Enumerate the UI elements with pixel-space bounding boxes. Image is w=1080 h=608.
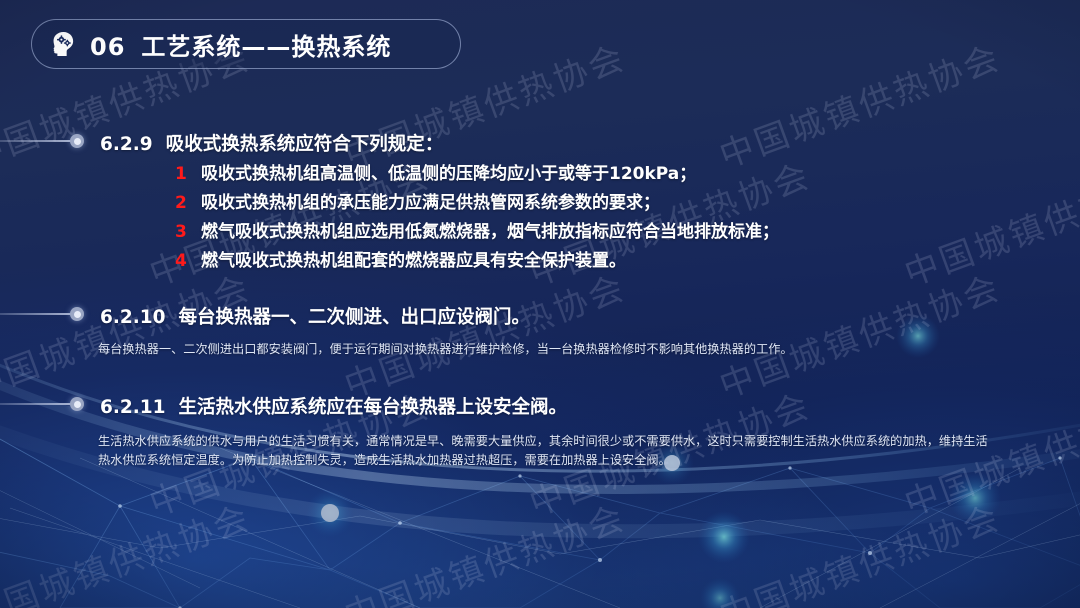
slide-canvas: 中国城镇供热协会 中国城镇供热协会 中国城镇供热协会 中国城镇供热协会 中国城镇…: [0, 0, 1080, 608]
section-number: 6.2.11: [100, 397, 166, 418]
section-connector-line: [0, 403, 74, 405]
section-heading-629: 6.2.9吸收式换热系统应符合下列规定：: [100, 130, 443, 156]
head-gears-icon: [48, 29, 78, 59]
numbered-item-2: 2 吸收式换热机组的承压能力应满足供热管网系统参数的要求；: [175, 188, 660, 213]
watermark-text: 中国城镇供热协会: [0, 490, 257, 608]
item-text: 燃气吸收式换热机组配套的燃烧器应具有安全保护装置。: [201, 246, 626, 271]
item-number: 1: [175, 164, 201, 184]
watermark-text: 中国城镇供热协会: [712, 490, 1007, 608]
section-bullet-dot: [70, 134, 84, 148]
header-title-text: 工艺系统——换热系统: [141, 33, 391, 61]
section-connector-line: [0, 140, 74, 142]
item-number: 4: [175, 251, 201, 271]
watermark-text: 中国城镇供热协会: [712, 30, 1007, 177]
watermark-text: 中国城镇供热协会: [337, 490, 632, 608]
watermark-text: 中国城镇供热协会: [337, 260, 632, 407]
section-title: 生活热水供应系统应在每台换热器上设安全阀。: [179, 397, 568, 418]
section-bullet-dot: [70, 397, 84, 411]
watermark-text: 中国城镇供热协会: [897, 148, 1080, 295]
item-number: 2: [175, 193, 201, 213]
item-text: 燃气吸收式换热机组应选用低氮燃烧器，烟气排放指标应符合当地排放标准；: [201, 217, 779, 242]
watermark-text: 中国城镇供热协会: [522, 600, 817, 608]
watermark-text: 中国城镇供热协会: [0, 260, 257, 407]
item-number: 3: [175, 222, 201, 242]
section-number: 6.2.10: [100, 307, 166, 328]
section-connector-line: [0, 313, 74, 315]
section-title: 每台换热器一、二次侧进、出口应设阀门。: [179, 307, 531, 328]
section-body-6210: 每台换热器一、二次侧进出口都安装阀门，便于运行期间对换热器进行维护检修，当一台换…: [98, 340, 978, 359]
item-text: 吸收式换热机组高温侧、低温侧的压降均应小于或等于120kPa；: [201, 159, 696, 184]
slide-header-pill: 06工艺系统——换热系统: [31, 19, 461, 69]
section-number: 6.2.9: [100, 134, 153, 155]
numbered-item-1: 1 吸收式换热机组高温侧、低温侧的压降均应小于或等于120kPa；: [175, 159, 696, 184]
numbered-item-4: 4 燃气吸收式换热机组配套的燃烧器应具有安全保护装置。: [175, 246, 626, 271]
item-text: 吸收式换热机组的承压能力应满足供热管网系统参数的要求；: [201, 188, 660, 213]
header-number: 06: [90, 33, 125, 61]
section-heading-6210: 6.2.10每台换热器一、二次侧进、出口应设阀门。: [100, 303, 530, 329]
numbered-item-3: 3 燃气吸收式换热机组应选用低氮燃烧器，烟气排放指标应符合当地排放标准；: [175, 217, 779, 242]
section-title: 吸收式换热系统应符合下列规定：: [166, 134, 444, 155]
section-heading-6211: 6.2.11生活热水供应系统应在每台换热器上设安全阀。: [100, 393, 567, 419]
section-bullet-dot: [70, 307, 84, 321]
section-body-6211: 生活热水供应系统的供水与用户的生活习惯有关，通常情况是早、晚需要大量供应，其余时…: [98, 432, 988, 470]
watermark-text: 中国城镇供热协会: [142, 600, 437, 608]
watermark-text: 中国城镇供热协会: [712, 260, 1007, 407]
header-title: 06工艺系统——换热系统: [90, 27, 391, 62]
